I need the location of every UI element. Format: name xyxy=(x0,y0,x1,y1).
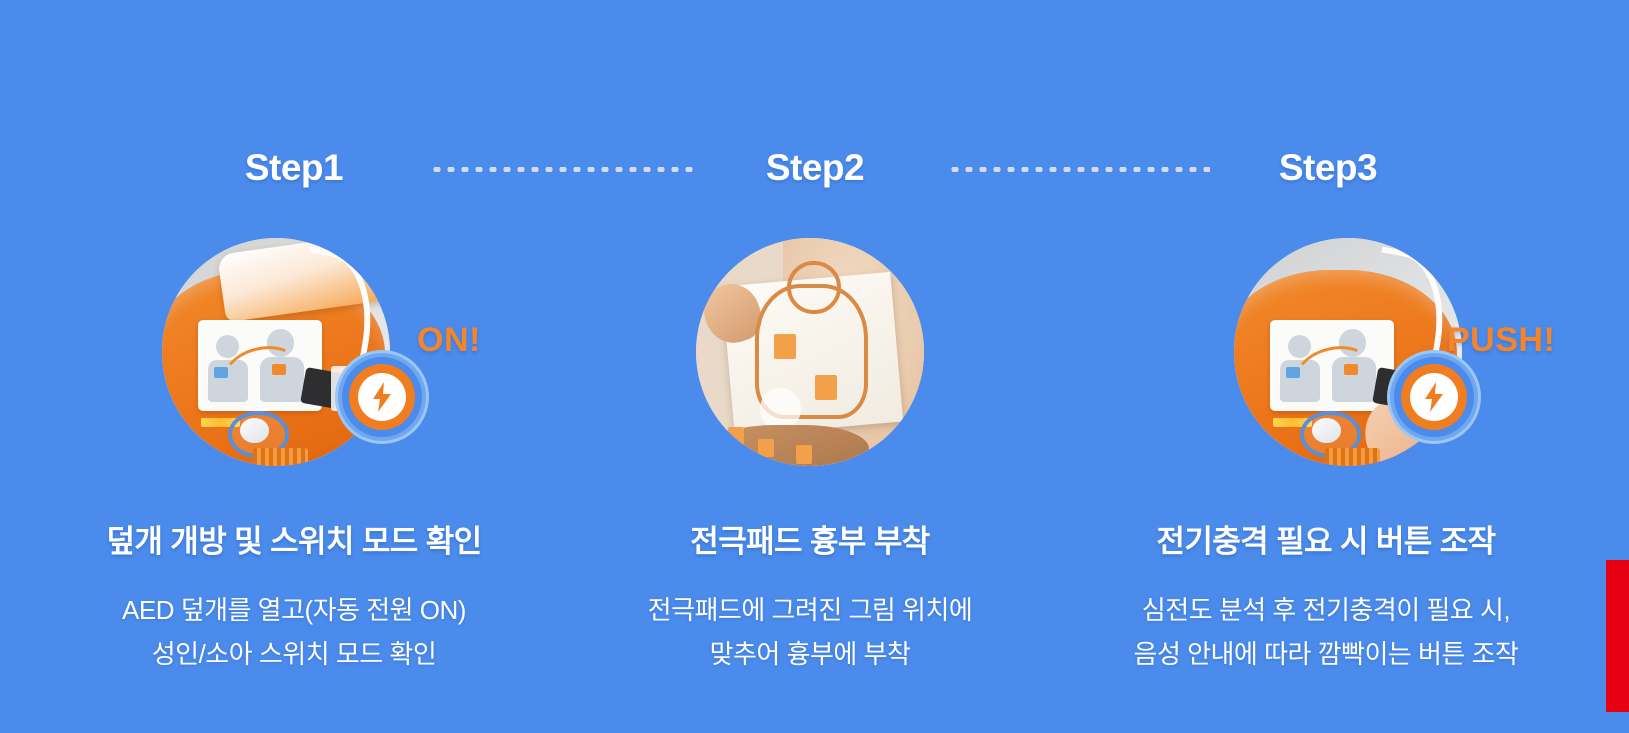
step-2-body-line-2: 맞추어 흉부에 부착 xyxy=(540,632,1080,676)
step-2-body: 전극패드에 그려진 그림 위치에 맞추어 흉부에 부착 xyxy=(540,588,1080,676)
step-header-row: Step1 Step2 Step3 xyxy=(0,140,1629,200)
lightning-bolt-icon xyxy=(371,382,393,412)
step-2-photo-wrap xyxy=(540,230,1080,470)
step-1-caption: 덮개 개방 및 스위치 모드 확인 AED 덮개를 열고(자동 전원 ON) 성… xyxy=(24,522,564,676)
step-columns: 덮개 개방 및 스위치 모드 확인 AED 덮개를 열고(자동 전원 ON) 성… xyxy=(0,230,1629,700)
step-1-title: 덮개 개방 및 스위치 모드 확인 xyxy=(24,522,564,562)
step-3-body-line-2: 음성 안내에 따라 깜빡이는 버튼 조작 xyxy=(1056,632,1596,676)
step-1-photo-wrap xyxy=(24,230,564,470)
step-3-title: 전기충격 필요 시 버튼 조작 xyxy=(1056,522,1596,562)
step-card-2: 전극패드 흉부 부착 전극패드에 그려진 그림 위치에 맞추어 흉부에 부착 xyxy=(540,230,1080,470)
step-3-body: 심전도 분석 후 전기충격이 필요 시, 음성 안내에 따라 깜빡이는 버튼 조… xyxy=(1056,588,1596,676)
step-3-body-line-1: 심전도 분석 후 전기충격이 필요 시, xyxy=(1056,588,1596,632)
shock-badge-step-3 xyxy=(1390,353,1478,441)
shock-badge-step-1 xyxy=(338,353,426,441)
step-1-body: AED 덮개를 열고(자동 전원 ON) 성인/소아 스위치 모드 확인 xyxy=(24,588,564,676)
lightning-bolt-icon xyxy=(1423,382,1445,412)
step-1-body-line-2: 성인/소아 스위치 모드 확인 xyxy=(24,632,564,676)
step-label-2: Step2 xyxy=(685,140,945,196)
step-card-1: 덮개 개방 및 스위치 모드 확인 AED 덮개를 열고(자동 전원 ON) 성… xyxy=(24,230,564,470)
step-2-caption: 전극패드 흉부 부착 전극패드에 그려진 그림 위치에 맞추어 흉부에 부착 xyxy=(540,522,1080,676)
step-connector-1-2 xyxy=(430,167,698,172)
right-edge-red-panel xyxy=(1606,560,1629,712)
step-label-1: Step1 xyxy=(164,140,424,196)
callout-on-label: ON! xyxy=(417,321,481,360)
step-2-title: 전극패드 흉부 부착 xyxy=(540,522,1080,562)
step-label-3: Step3 xyxy=(1198,140,1458,196)
step-1-body-line-1: AED 덮개를 열고(자동 전원 ON) xyxy=(24,588,564,632)
aed-usage-steps-panel: Step1 Step2 Step3 xyxy=(0,0,1629,733)
callout-push-label: PUSH! xyxy=(1447,321,1555,360)
step-2-body-line-1: 전극패드에 그려진 그림 위치에 xyxy=(540,588,1080,632)
step-3-caption: 전기충격 필요 시 버튼 조작 심전도 분석 후 전기충격이 필요 시, 음성 … xyxy=(1056,522,1596,676)
electrode-pad-diagram-photo xyxy=(696,238,924,466)
step-connector-2-3 xyxy=(948,167,1210,172)
